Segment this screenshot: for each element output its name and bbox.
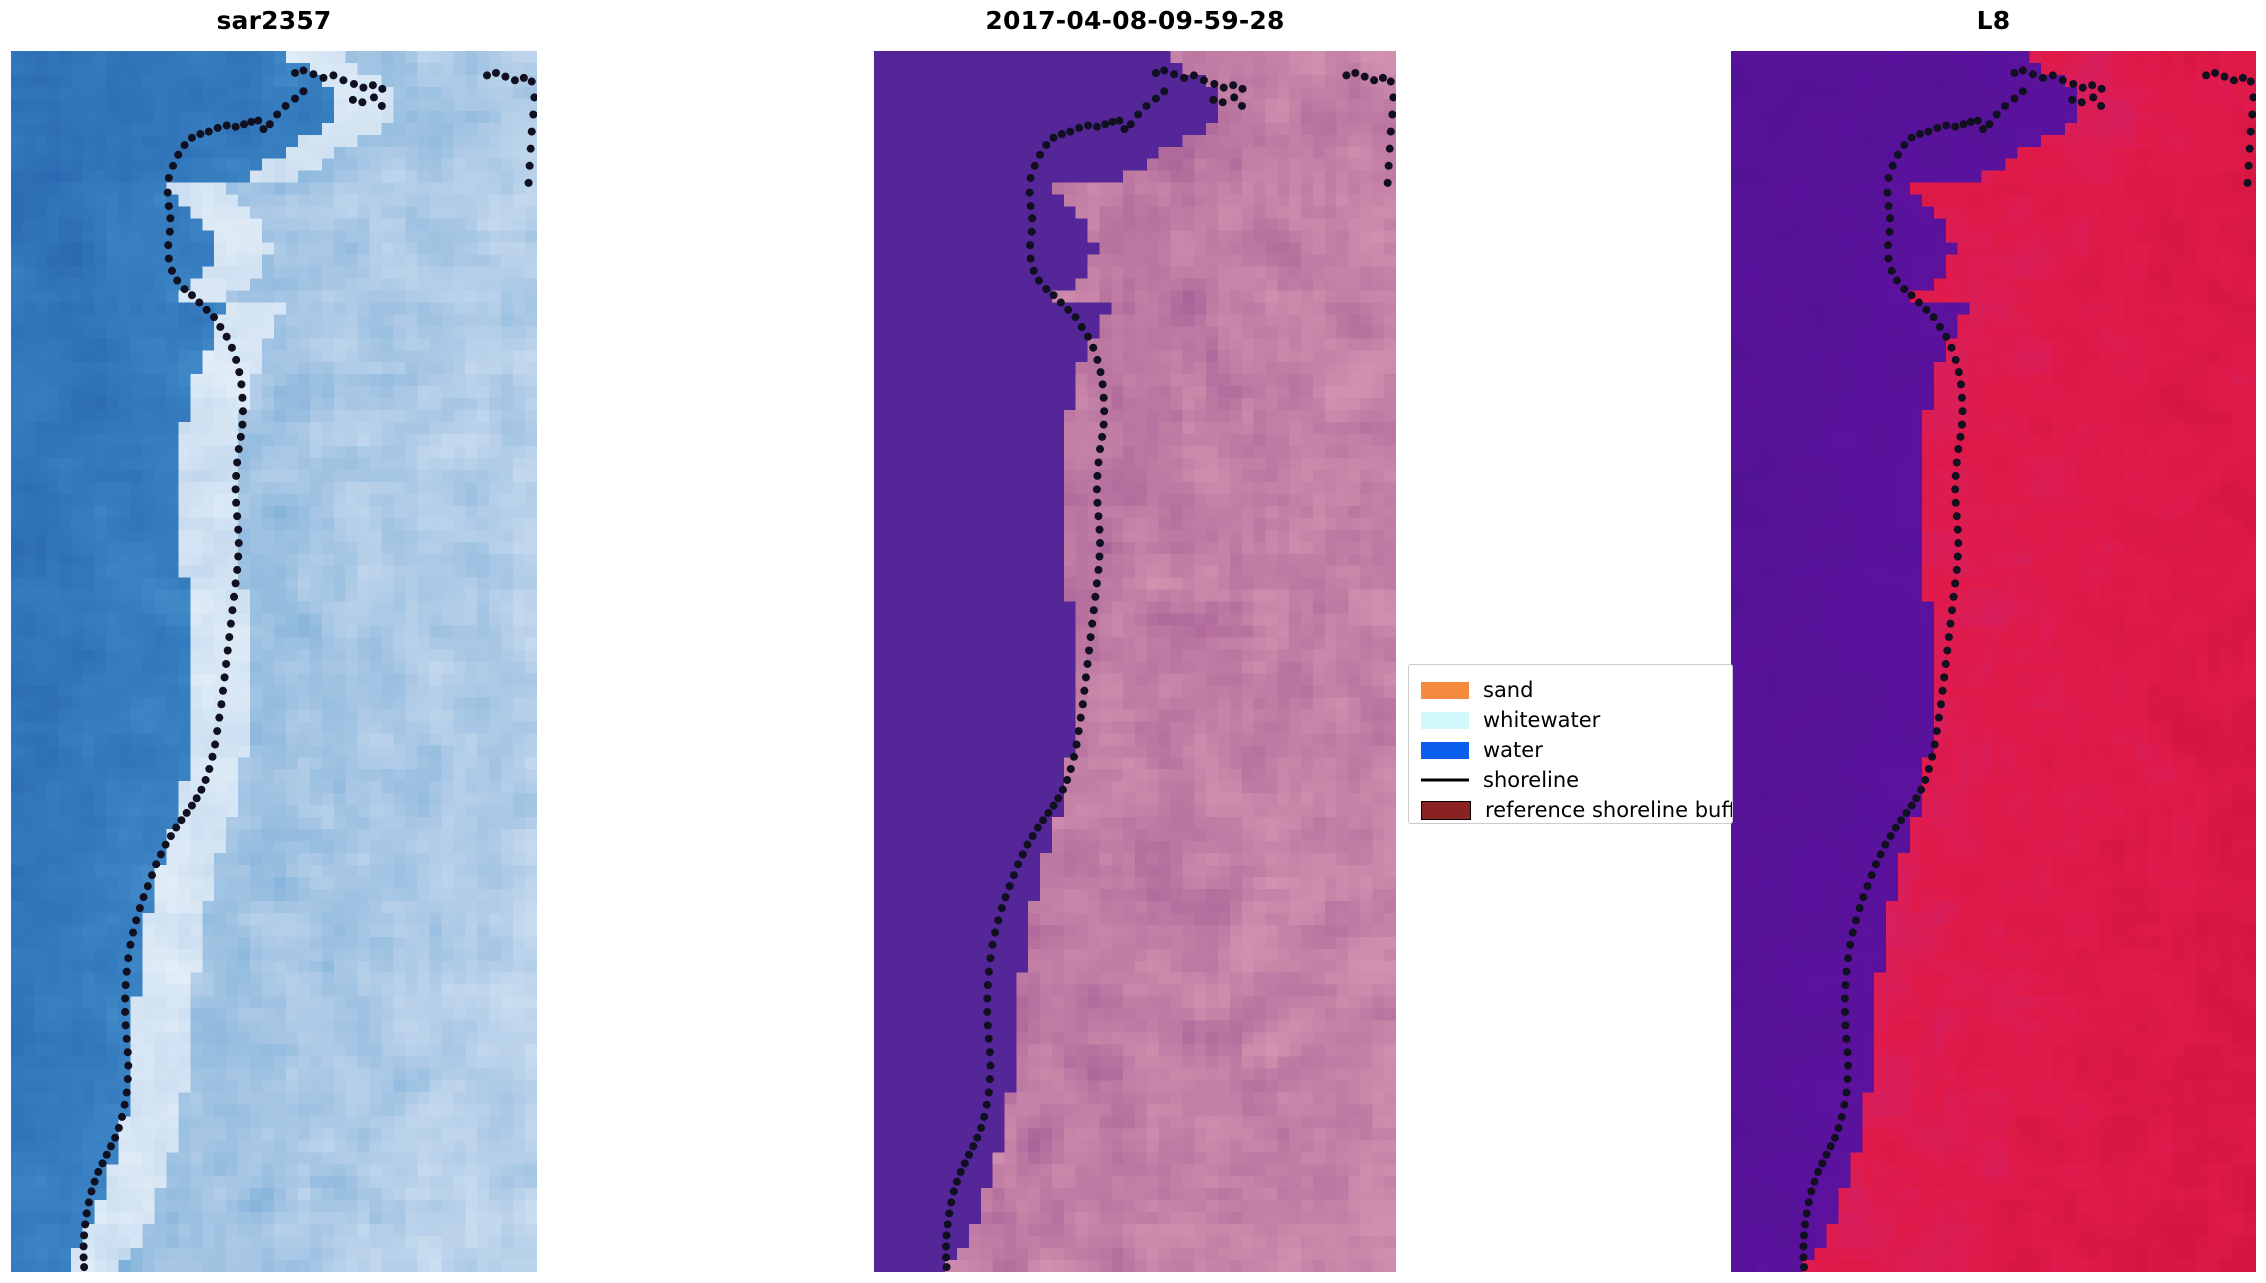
legend-item-water: water [1421, 735, 1722, 765]
reference-buffer-swatch-icon [1421, 801, 1471, 820]
panel-title-l8: L8 [1731, 8, 2256, 33]
panel-title-date: 2017-04-08-09-59-28 [874, 8, 1396, 33]
shoreline-line-icon [1421, 772, 1469, 789]
legend-item-whitewater: whitewater [1421, 705, 1722, 735]
legend: sand whitewater water shoreline referenc… [1408, 664, 1733, 824]
figure-root: sar2357 2017-04-08-09-59-28 L8 sand whit… [0, 0, 2266, 1283]
panel-classification [874, 51, 1396, 1272]
water-swatch-icon [1421, 742, 1469, 759]
legend-label-shoreline: shoreline [1483, 770, 1579, 791]
panel-sar2357 [11, 51, 537, 1272]
legend-item-shoreline: shoreline [1421, 765, 1722, 795]
sand-swatch-icon [1421, 682, 1469, 699]
panel-title-sar2357: sar2357 [11, 8, 537, 33]
legend-label-water: water [1483, 740, 1543, 761]
legend-label-reference-buffer: reference shoreline buffer [1485, 800, 1733, 821]
panel-l8 [1731, 51, 2256, 1272]
sar-raster [11, 51, 537, 1272]
classification-raster [874, 51, 1396, 1272]
legend-item-sand: sand [1421, 675, 1722, 705]
legend-item-reference-buffer: reference shoreline buffer [1421, 795, 1722, 824]
legend-label-sand: sand [1483, 680, 1533, 701]
whitewater-swatch-icon [1421, 712, 1469, 729]
l8-raster [1731, 51, 2256, 1272]
legend-label-whitewater: whitewater [1483, 710, 1600, 731]
